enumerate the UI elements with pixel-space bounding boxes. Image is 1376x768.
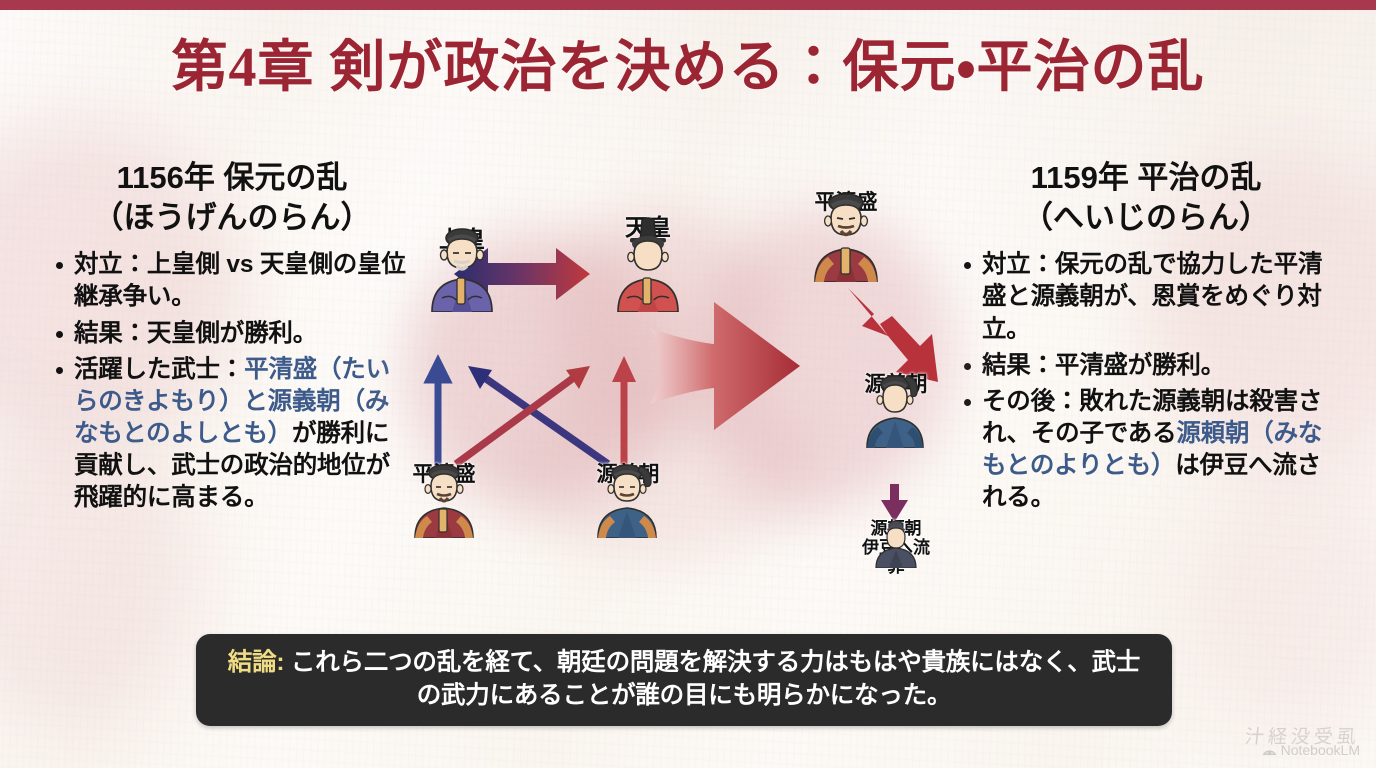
edge-kiyomori-defeats-yoshitomo-broken-arrow xyxy=(848,288,938,382)
yoshitomo-heiji-portrait-icon xyxy=(852,372,940,448)
figure-tenno: 天皇 xyxy=(600,214,696,241)
section-hogen-rebellion: 1156年 保元の乱 （ほうげんのらん） 対立：上皇側 vs 天皇側の皇位継承争… xyxy=(52,158,412,518)
bullet-result: 結果：平清盛が勝利。 xyxy=(960,350,1332,382)
conclusion-label: 結論: xyxy=(228,649,285,676)
yoritomo-portrait-icon xyxy=(862,518,930,568)
relationship-diagram: 上皇 天皇 xyxy=(396,196,966,626)
figure-joko: 上皇 xyxy=(414,226,510,253)
joko-portrait-icon xyxy=(414,226,510,312)
edge-transition-big-arrow xyxy=(650,302,800,430)
kiyomori-heiji-portrait-icon xyxy=(798,190,894,282)
conclusion-banner: 結論: これら二つの乱を経て、朝廷の問題を解決する力はもはや貴族にはなく、武士の… xyxy=(196,634,1172,726)
section-heiji-rebellion: 1159年 平治の乱 （へいじのらん） 対立：保元の乱で協力した平清盛と源義朝が… xyxy=(960,158,1332,518)
figure-yoshitomo-heiji: 源義朝 xyxy=(852,372,940,397)
slide-root: 第4章 剣が政治を決める：保元・平治の乱 1156年 保元の乱 （ほうげんのらん… xyxy=(0,0,1376,768)
watermark-brand-label: NotebookLM xyxy=(1281,742,1360,758)
edge-yoshitomo-to-joko xyxy=(468,366,608,464)
bullet-text: 活躍した武士： xyxy=(74,356,244,383)
hogen-bullet-list: 対立：上皇側 vs 天皇側の皇位継承争い。結果：天皇側が勝利。活躍した武士：平清… xyxy=(52,249,412,514)
yoshitomo-portrait-icon xyxy=(584,462,672,538)
heiji-heading: 1159年 平治の乱 （へいじのらん） xyxy=(960,158,1332,237)
bullet-text: 結果：天皇側が勝利。 xyxy=(74,320,317,347)
bullet-text: 対立：保元の乱で協力した平清盛と源義朝が、恩賞をめぐり対立。 xyxy=(982,251,1322,342)
conclusion-body: これら二つの乱を経て、朝廷の問題を解決する力はもはや貴族にはなく、武士の武力にあ… xyxy=(284,649,1140,709)
bullet-aftermath: その後：敗れた源義朝は殺害され、その子である源頼朝（みなもとのよりとも）は伊豆へ… xyxy=(960,386,1332,514)
kiyomori-portrait-icon xyxy=(400,462,488,538)
bullet-text: 結果：平清盛が勝利。 xyxy=(982,352,1225,379)
watermark-brand: NotebookLM xyxy=(1262,742,1360,758)
bullet-conflict: 対立：上皇側 vs 天皇側の皇位継承争い。 xyxy=(52,249,412,313)
figure-yoritomo: 源頼朝 伊豆へ流罪 xyxy=(862,518,930,576)
figure-kiyomori: 平清盛 xyxy=(400,462,488,487)
edge-yoshitomo-to-yoritomo xyxy=(881,484,908,522)
bullet-samurai: 活躍した武士：平清盛（たいらのきよもり）と源義朝（みなもとのよしとも）が勝利に貢… xyxy=(52,354,412,514)
figure-kiyomori-heiji: 平清盛 xyxy=(798,190,894,215)
page-title: 第4章 剣が政治を決める：保元・平治の乱 xyxy=(0,38,1376,100)
edge-kiyomori-to-joko xyxy=(426,356,450,470)
heiji-bullet-list: 対立：保元の乱で協力した平清盛と源義朝が、恩賞をめぐり対立。結果：平清盛が勝利。… xyxy=(960,249,1332,514)
watermark: 汁経没受虱 NotebookLM xyxy=(1245,722,1360,758)
hogen-heading: 1156年 保元の乱 （ほうげんのらん） xyxy=(52,158,412,237)
tenno-portrait-icon xyxy=(600,214,696,312)
figure-yoshitomo: 源義朝 xyxy=(584,462,672,487)
bullet-conflict: 対立：保元の乱で協力した平清盛と源義朝が、恩賞をめぐり対立。 xyxy=(960,249,1332,345)
bullet-result: 結果：天皇側が勝利。 xyxy=(52,318,412,350)
watermark-cjk-text: 汁経没受虱 xyxy=(1244,722,1362,749)
edge-yoshitomo-to-tenno xyxy=(612,356,636,468)
notebooklm-logo-icon xyxy=(1262,743,1277,758)
bullet-text: 対立：上皇側 vs 天皇側の皇位継承争い。 xyxy=(74,251,406,310)
top-accent-bar xyxy=(0,0,1376,10)
conclusion-text: 結論: これら二つの乱を経て、朝廷の問題を解決する力はもはや貴族にはなく、武士の… xyxy=(196,647,1172,713)
